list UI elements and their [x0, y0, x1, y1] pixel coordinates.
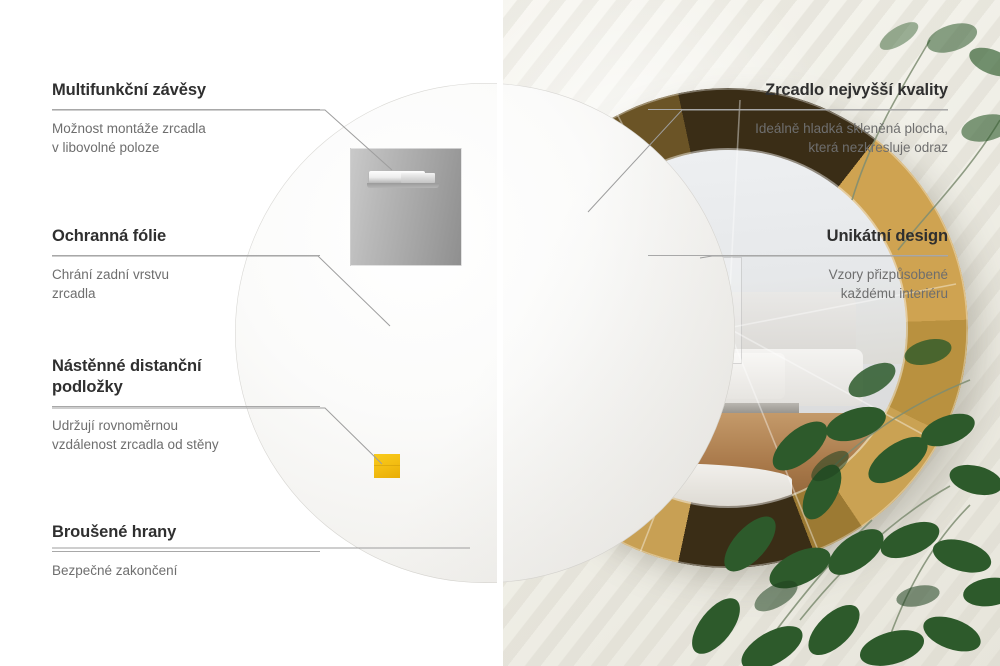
callout-body: Bezpečné zakončení — [52, 561, 320, 580]
callout-nastenne-distancni-podlozky: Nástěnné distanční podložky Udržují rovn… — [52, 356, 320, 454]
callout-rule — [52, 109, 320, 110]
callout-title: Unikátní design — [648, 226, 948, 247]
keyhole-hanger-bracket — [350, 148, 462, 266]
callout-rule — [52, 406, 320, 407]
callout-zrcadlo-nejvyssi-kvality: Zrcadlo nejvyšší kvality Ideálně hladká … — [648, 80, 948, 157]
callout-body: Vzory přizpůsobené každému interiéru — [648, 265, 948, 303]
callout-body: Ideálně hladká skleněná plocha, která ne… — [648, 119, 948, 157]
callout-ochranna-folie: Ochranná fólie Chrání zadní vrstvu zrcad… — [52, 226, 320, 303]
mirror-back-disc-shading — [235, 83, 735, 583]
wall-spacer-pad — [374, 454, 400, 478]
callout-rule — [648, 255, 948, 256]
callout-rule — [52, 551, 320, 552]
callout-unikatni-design: Unikátní design Vzory přizpůsobené každé… — [648, 226, 948, 303]
callout-body: Chrání zadní vrstvu zrcadla — [52, 265, 320, 303]
hanger-keyhole-slot-inner — [401, 173, 435, 183]
hanger-lip — [367, 183, 439, 188]
callout-title: Nástěnné distanční podložky — [52, 356, 320, 398]
callout-title: Ochranná fólie — [52, 226, 320, 247]
callout-brousene-hrany: Broušené hrany Bezpečné zakončení — [52, 522, 320, 580]
callout-rule — [52, 255, 320, 256]
callout-title: Zrcadlo nejvyšší kvality — [648, 80, 948, 101]
callout-title: Multifunkční závěsy — [52, 80, 320, 101]
callout-title: Broušené hrany — [52, 522, 320, 543]
callout-rule — [648, 109, 948, 110]
panel-divider — [497, 0, 503, 666]
infographic-stage: Multifunkční závěsy Možnost montáže zrca… — [0, 0, 1000, 666]
callout-body: Udržují rovnoměrnou vzdálenost zrcadla o… — [52, 416, 320, 454]
callout-body: Možnost montáže zrcadla v libovolné polo… — [52, 119, 320, 157]
callout-multifunkcni-zavesy: Multifunkční závěsy Možnost montáže zrca… — [52, 80, 320, 157]
